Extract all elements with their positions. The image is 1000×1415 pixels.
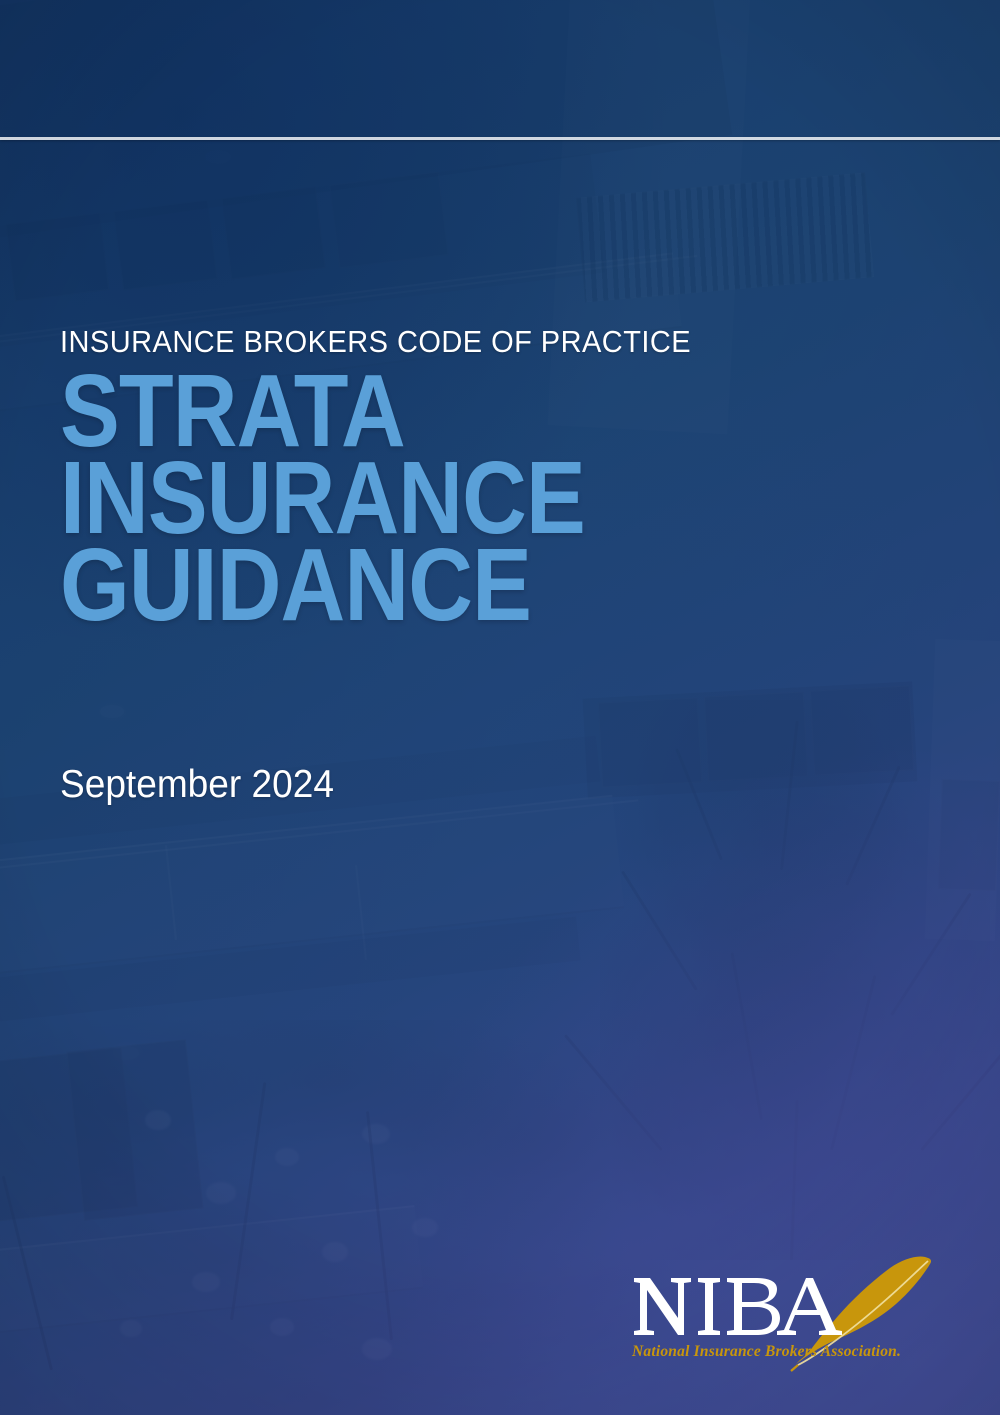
niba-logo: National Insurance Brokers Association. [628, 1252, 948, 1372]
niba-tagline: National Insurance Brokers Association. [631, 1343, 901, 1360]
niba-wordmark-letters [634, 1278, 842, 1335]
title-line-3: GUIDANCE [60, 541, 843, 628]
vignette-overlay [0, 0, 1000, 1415]
document-cover: INSURANCE BROKERS CODE OF PRACTICE STRAT… [0, 0, 1000, 1415]
cover-main-title: STRATA INSURANCE GUIDANCE [60, 367, 843, 628]
publication-date: September 2024 [60, 763, 334, 807]
cover-background-photo [0, 0, 1000, 1415]
header-divider-rule [0, 137, 1000, 140]
cover-title-block: INSURANCE BROKERS CODE OF PRACTICE STRAT… [60, 326, 960, 628]
